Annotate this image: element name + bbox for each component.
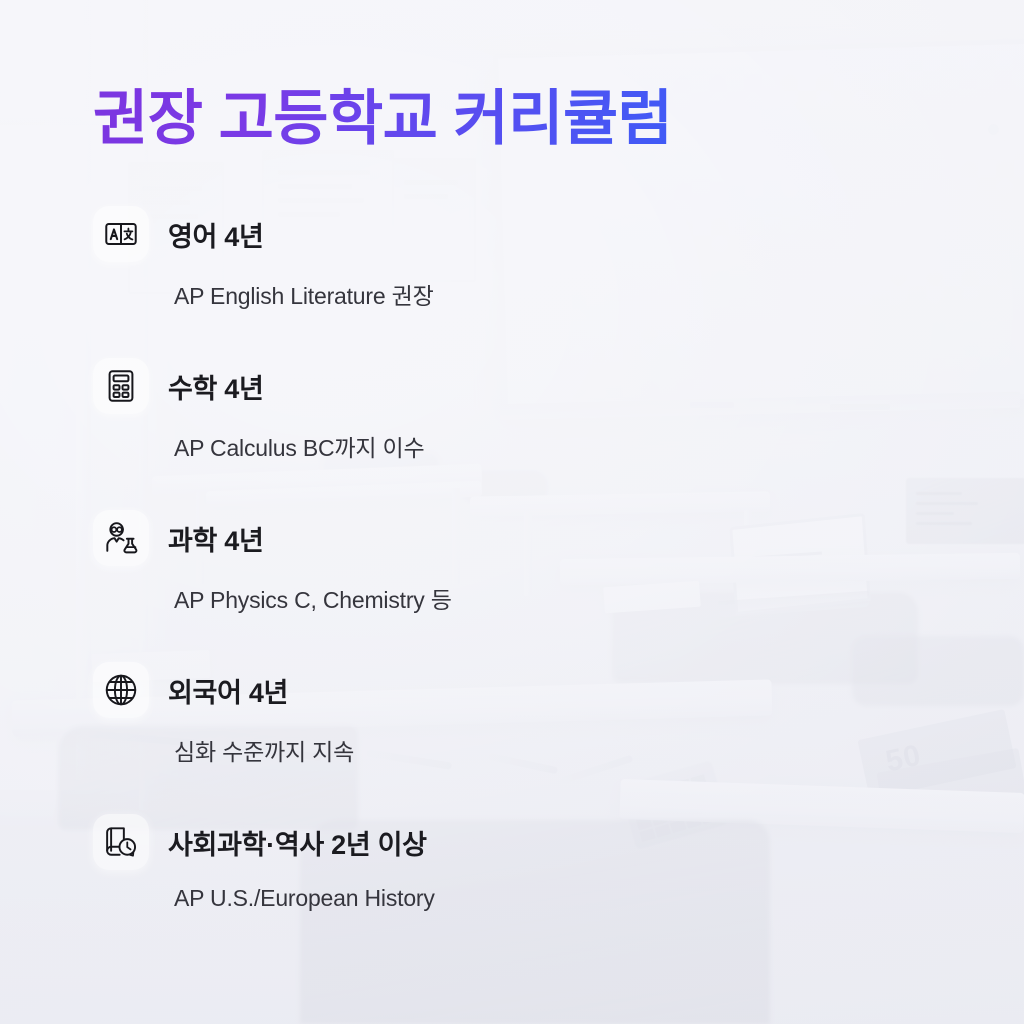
subject-subtitle: AP English Literature 권장 [174,277,733,311]
subject-subtitle: AP Physics C, Chemistry 등 [174,581,733,615]
subject-subtitle: AP Calculus BC까지 이수 [174,429,733,463]
list-item: 수학 4년 AP Calculus BC까지 이수 [93,358,733,510]
book-clock-history-icon [93,814,149,870]
poster-content: 권장 고등학교 커리큘럼 영어 4년 AP English Liter [0,0,1024,1024]
subject-title: 사회과학·역사 2년 이상 [168,823,427,862]
subject-subtitle: 심화 수준까지 지속 [174,733,733,767]
subject-title: 수학 4년 [168,367,264,406]
list-item: 외국어 4년 심화 수준까지 지속 [93,662,733,814]
list-item: 사회과학·역사 2년 이상 AP U.S./European History [93,814,733,966]
subject-list: 영어 4년 AP English Literature 권장 [93,206,733,966]
subject-title: 외국어 4년 [168,671,288,710]
subject-header: 외국어 4년 [93,662,733,718]
globe-icon [93,662,149,718]
subject-header: 수학 4년 [93,358,733,414]
subject-title: 영어 4년 [168,215,264,254]
subject-header: 사회과학·역사 2년 이상 [93,814,733,870]
scientist-flask-icon [93,510,149,566]
subject-header: 영어 4년 [93,206,733,262]
list-item: 영어 4년 AP English Literature 권장 [93,206,733,358]
subject-header: 과학 4년 [93,510,733,566]
list-item: 과학 4년 AP Physics C, Chemistry 등 [93,510,733,662]
page-title: 권장 고등학교 커리큘럼 [93,84,672,153]
calculator-icon [93,358,149,414]
translate-icon [93,206,149,262]
subject-title: 과학 4년 [168,519,264,558]
subject-subtitle: AP U.S./European History [174,885,733,912]
curriculum-poster: 50 권장 고등학교 커리큘럼 [0,0,1024,1024]
